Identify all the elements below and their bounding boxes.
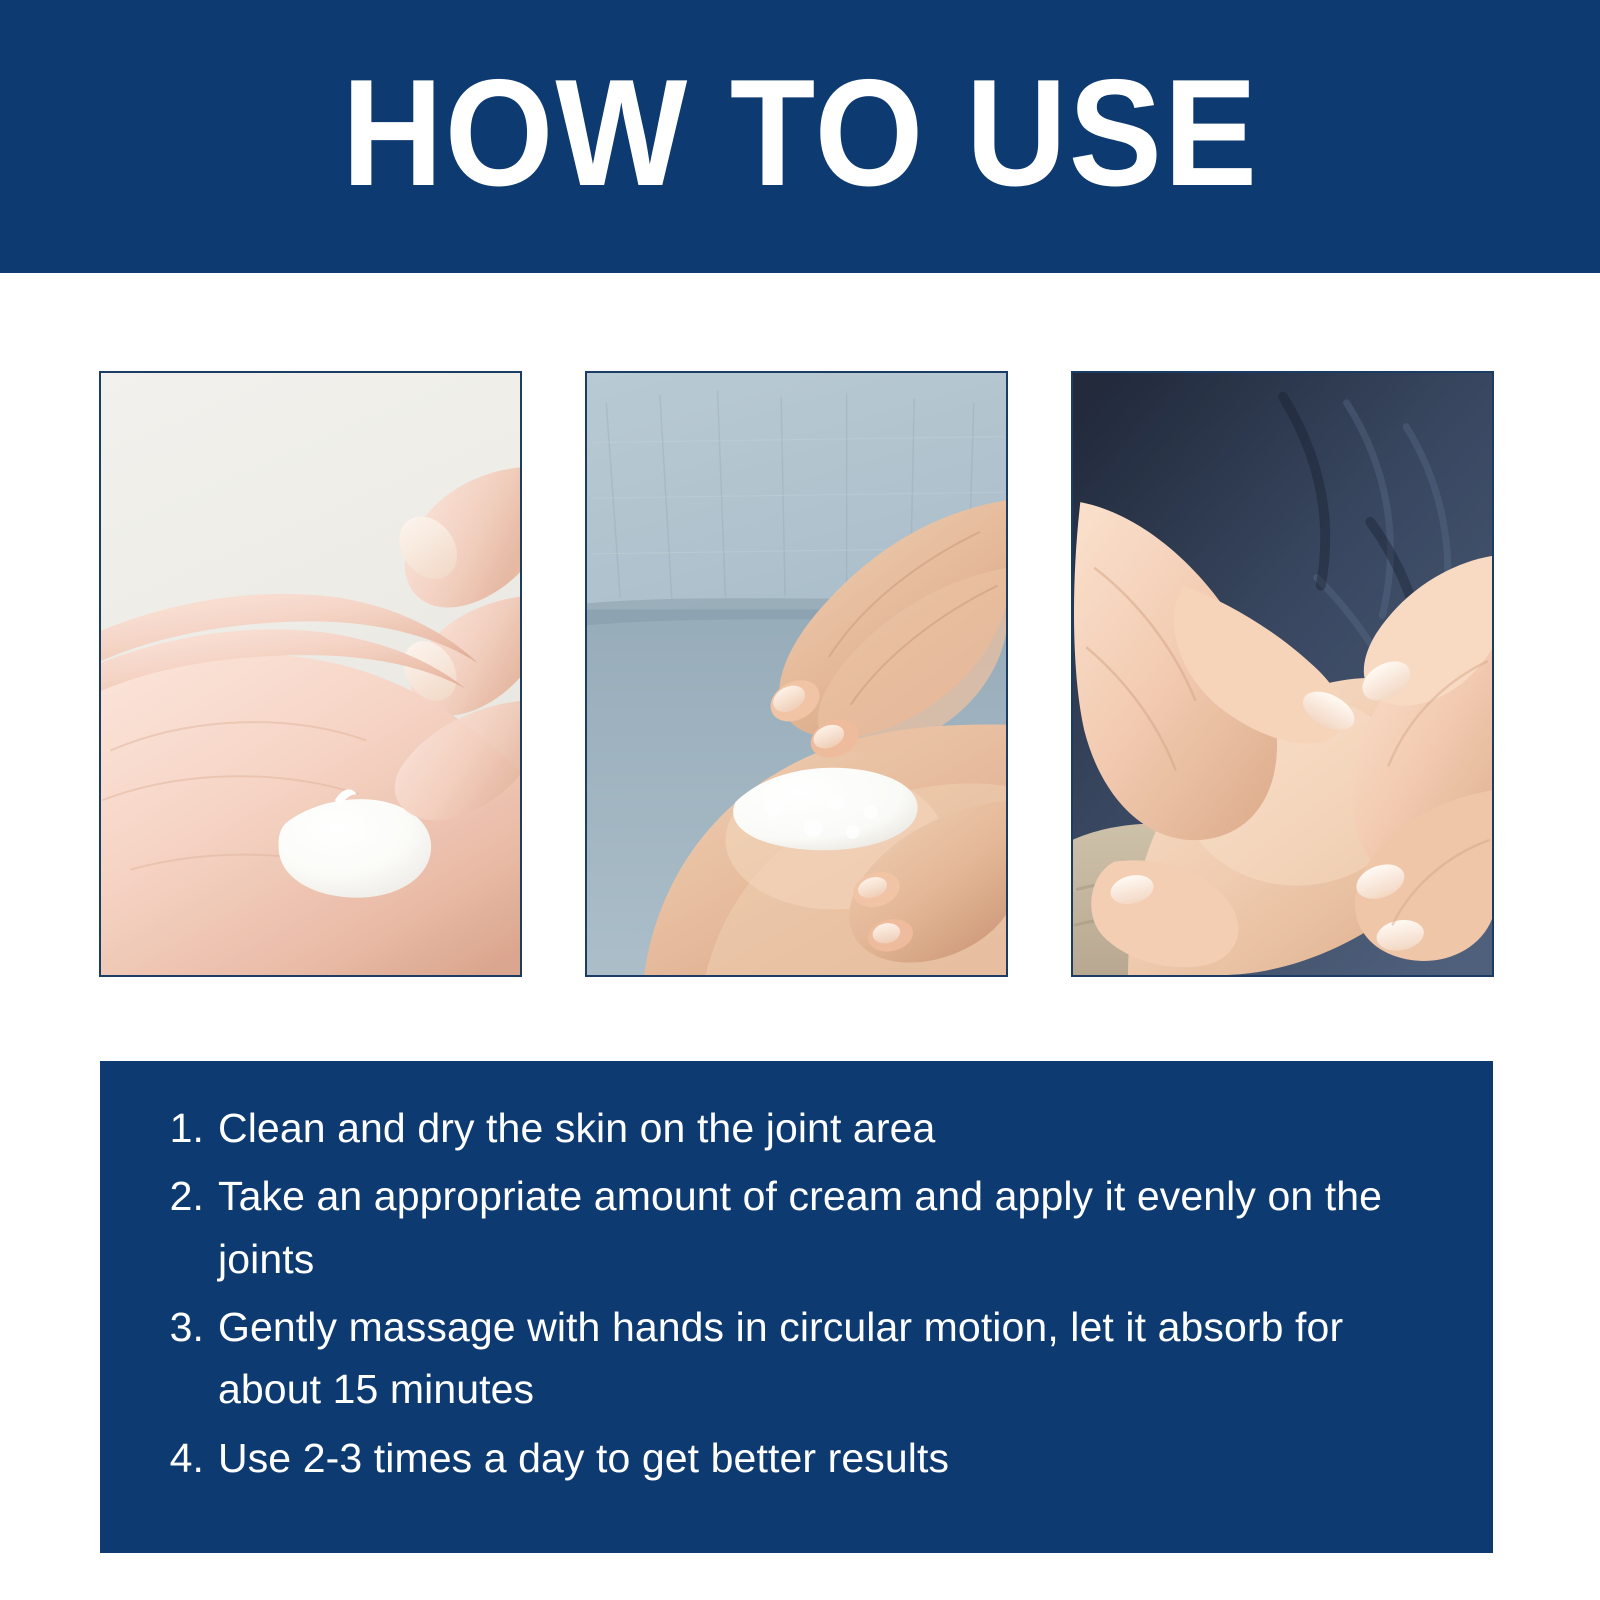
instruction-text: Clean and dry the skin on the joint area [218, 1097, 1440, 1159]
instruction-item-3: 3. Gently massage with hands in circular… [160, 1296, 1453, 1421]
instruction-item-4: 4. Use 2-3 times a day to get better res… [160, 1427, 1453, 1489]
instruction-list: 1. Clean and dry the skin on the joint a… [160, 1097, 1453, 1489]
instruction-number: 1. [160, 1097, 218, 1159]
photo-cream-on-palm [99, 371, 522, 977]
instruction-text: Take an appropriate amount of cream and … [218, 1165, 1440, 1290]
photo-massaging-knee [1071, 371, 1494, 977]
instruction-number: 3. [160, 1296, 218, 1358]
instruction-number: 4. [160, 1427, 218, 1489]
photo-applying-cream-to-knee [585, 371, 1008, 977]
instruction-text: Use 2-3 times a day to get better result… [218, 1427, 1440, 1489]
instruction-item-1: 1. Clean and dry the skin on the joint a… [160, 1097, 1453, 1159]
instructions-panel: 1. Clean and dry the skin on the joint a… [100, 1061, 1493, 1553]
header-banner: HOW TO USE [0, 0, 1600, 273]
photo-strip [99, 371, 1494, 977]
instruction-number: 2. [160, 1165, 218, 1227]
instruction-item-2: 2. Take an appropriate amount of cream a… [160, 1165, 1453, 1290]
page-title: HOW TO USE [341, 57, 1258, 217]
instruction-text: Gently massage with hands in circular mo… [218, 1296, 1440, 1421]
